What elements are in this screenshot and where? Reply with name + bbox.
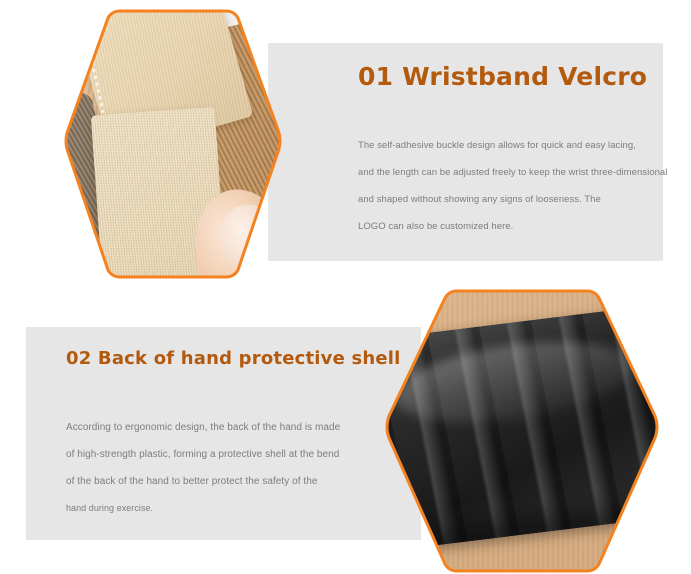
body-line: The self-adhesive buckle design allows f…	[358, 132, 658, 159]
protective-shell-photo	[383, 288, 661, 574]
body-line: of the back of the hand to better protec…	[66, 468, 366, 495]
feature-image-hexagon-02	[383, 288, 661, 574]
velcro-strap-photo	[62, 8, 284, 280]
feature-title-01: 01 Wristband Velcro	[358, 62, 658, 92]
body-line: of high-strength plastic, forming a prot…	[66, 441, 366, 468]
feature-text-02: 02 Back of hand protective shell Accordi…	[66, 347, 366, 522]
body-line: LOGO can also be customized here.	[358, 213, 658, 240]
body-line: hand during exercise.	[66, 495, 366, 522]
body-line: and shaped without showing any signs of …	[358, 186, 658, 213]
feature-text-01: 01 Wristband Velcro The self-adhesive bu…	[358, 62, 658, 240]
feature-body-01: The self-adhesive buckle design allows f…	[358, 132, 658, 240]
body-line: and the length can be adjusted freely to…	[358, 159, 658, 186]
feature-image-hexagon-01	[62, 8, 284, 280]
feature-body-02: According to ergonomic design, the back …	[66, 414, 366, 522]
body-line: According to ergonomic design, the back …	[66, 414, 366, 441]
feature-title-02: 02 Back of hand protective shell	[66, 347, 366, 371]
